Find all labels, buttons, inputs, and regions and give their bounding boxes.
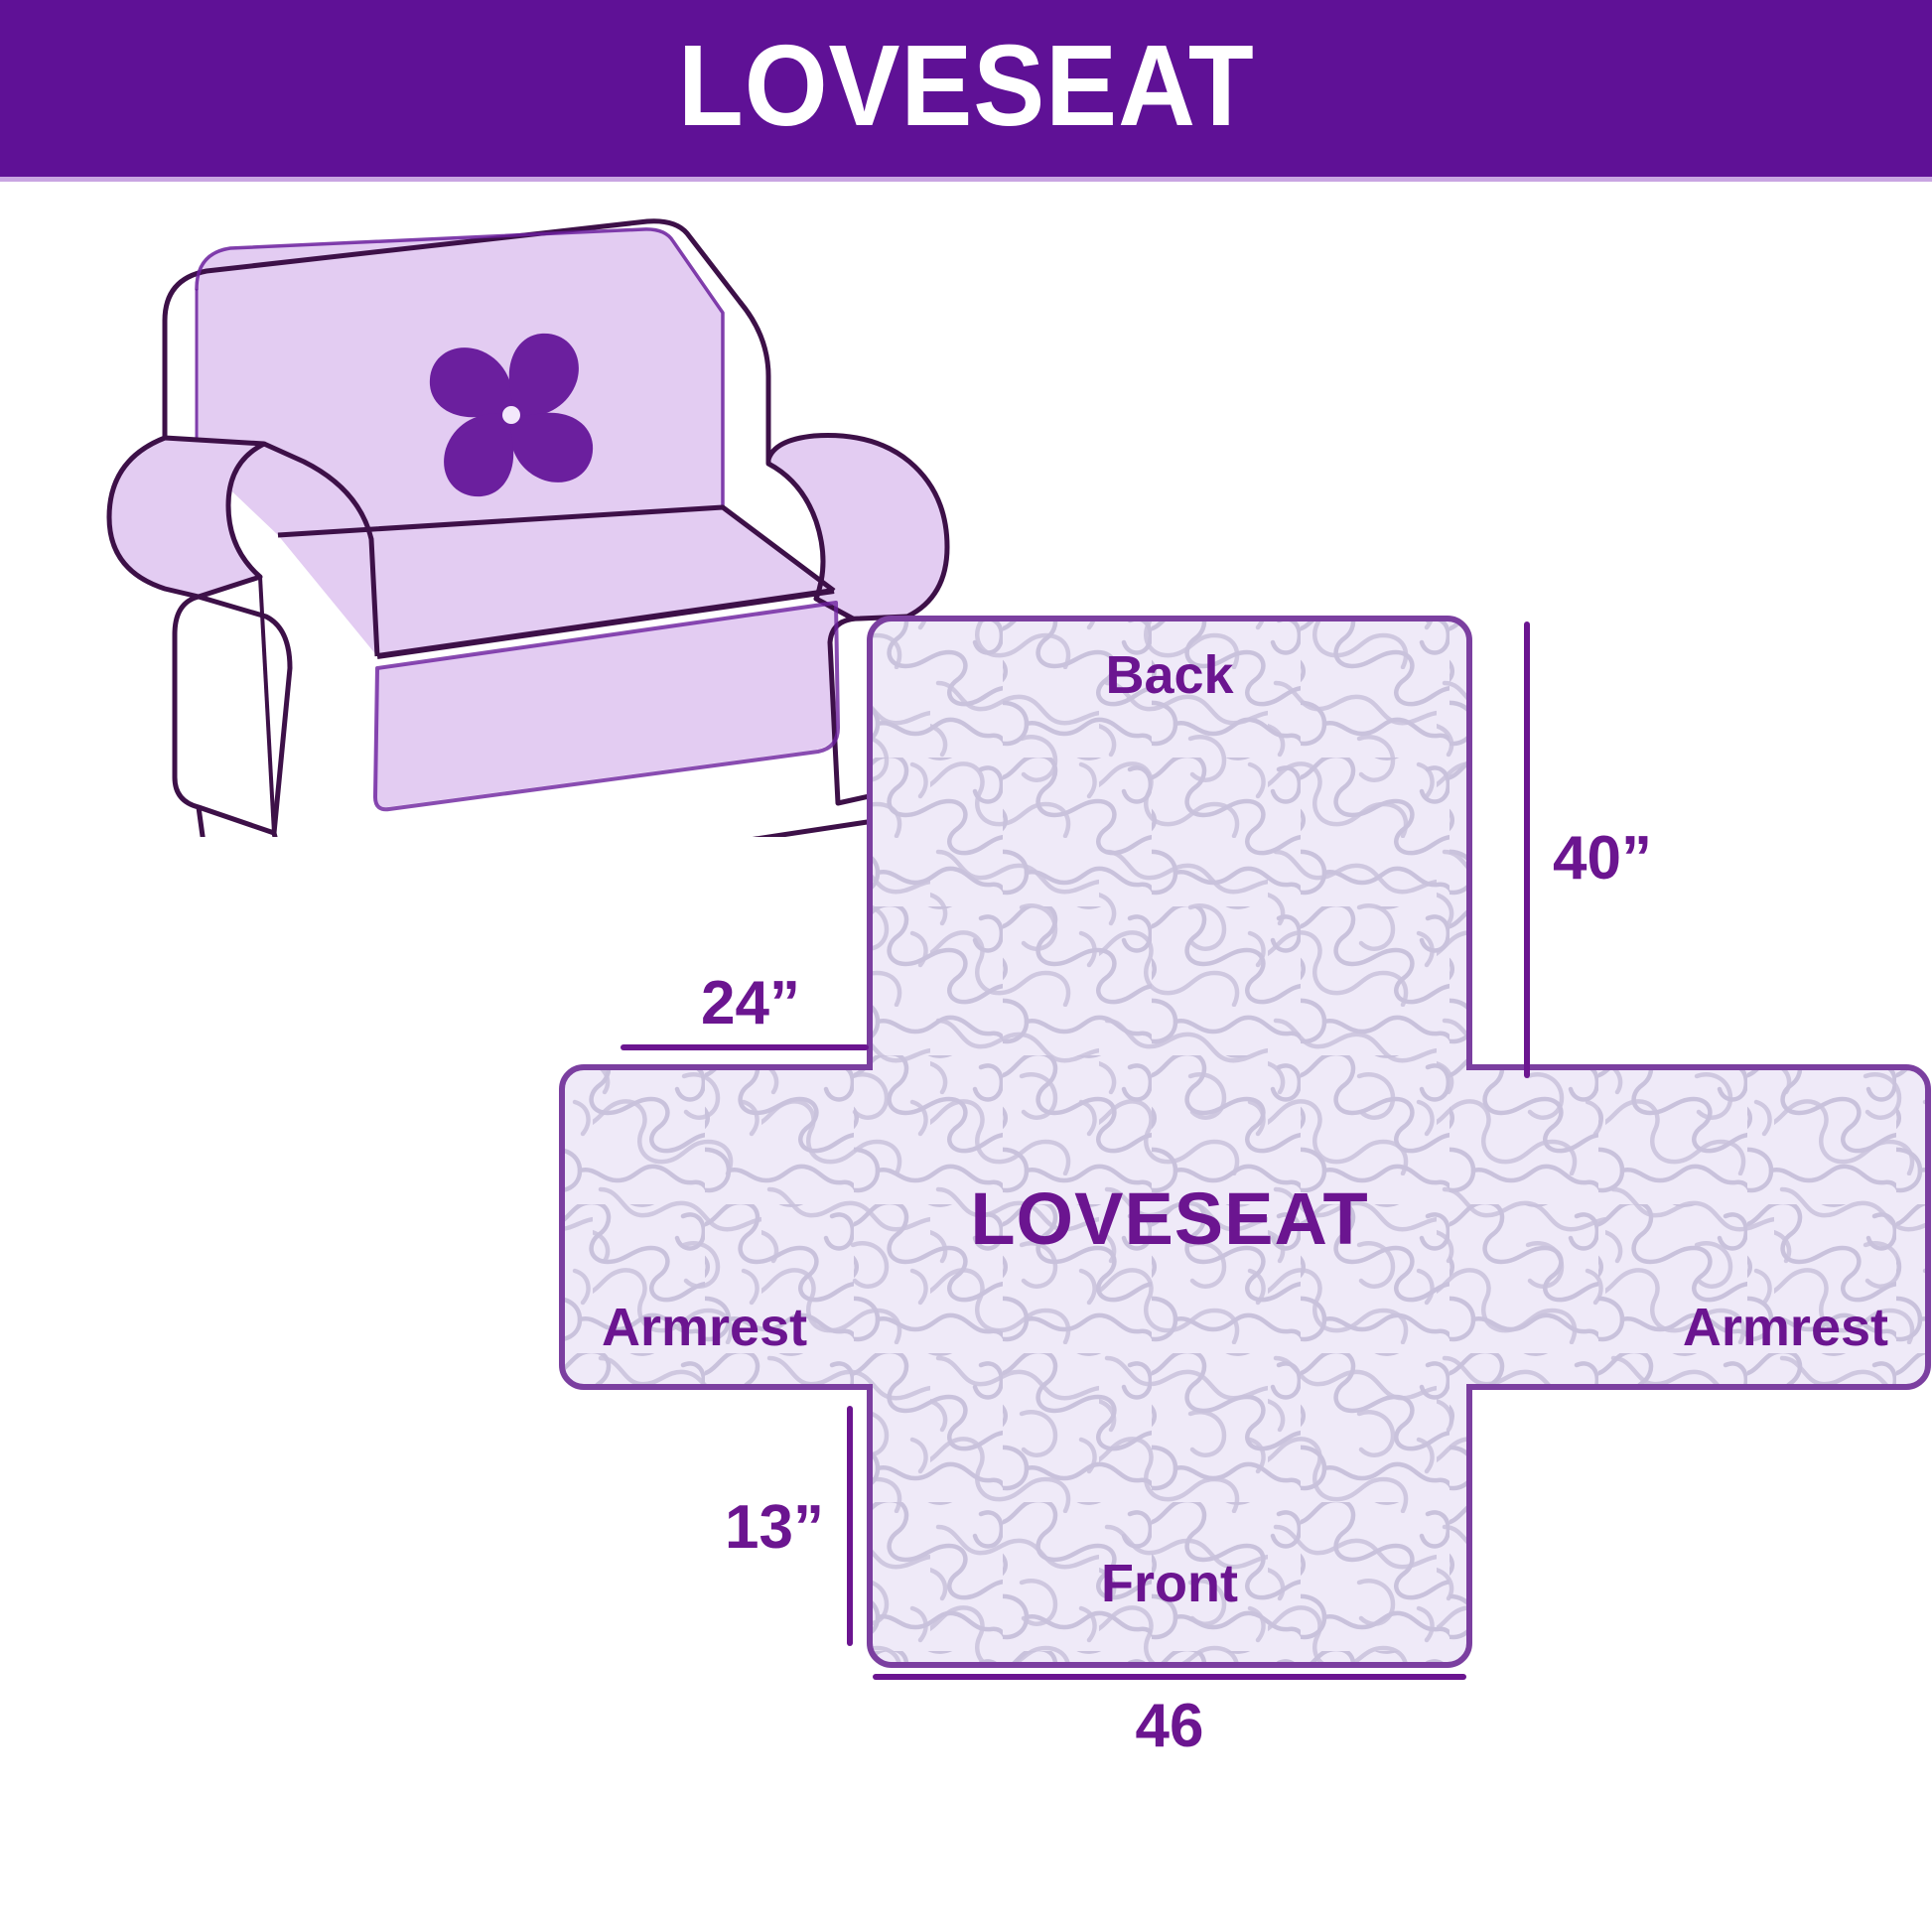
dimension-back-height: 40” [1527,624,1652,1075]
page-title: LOVESEAT [678,28,1255,149]
panel-label-armrest-right: Armrest [1683,1298,1888,1357]
dimension-front-depth: 13” [725,1409,850,1643]
dimension-back-width: 24” [623,969,866,1047]
dimension-value-total-width: 46 [1136,1692,1204,1760]
sofa-back-right-edge [741,303,768,460]
panel-label-back: Back [1105,645,1234,705]
dimension-value-back-width: 24” [701,969,800,1037]
dimension-value-back-height: 40” [1553,824,1652,893]
pattern-layout-diagram: Back LOVESEAT Armrest Armrest Front 40” … [556,609,1932,1929]
header-banner: LOVESEAT [0,0,1932,177]
dimension-value-front-depth: 13” [725,1493,824,1562]
dimension-total-width: 46 [876,1677,1463,1760]
panel-label-front: Front [1101,1554,1238,1613]
diagram-canvas: Back LOVESEAT Armrest Armrest Front 40” … [0,182,1932,1932]
panel-label-armrest-left: Armrest [602,1298,807,1357]
product-label-loveseat: LOVESEAT [970,1177,1368,1260]
